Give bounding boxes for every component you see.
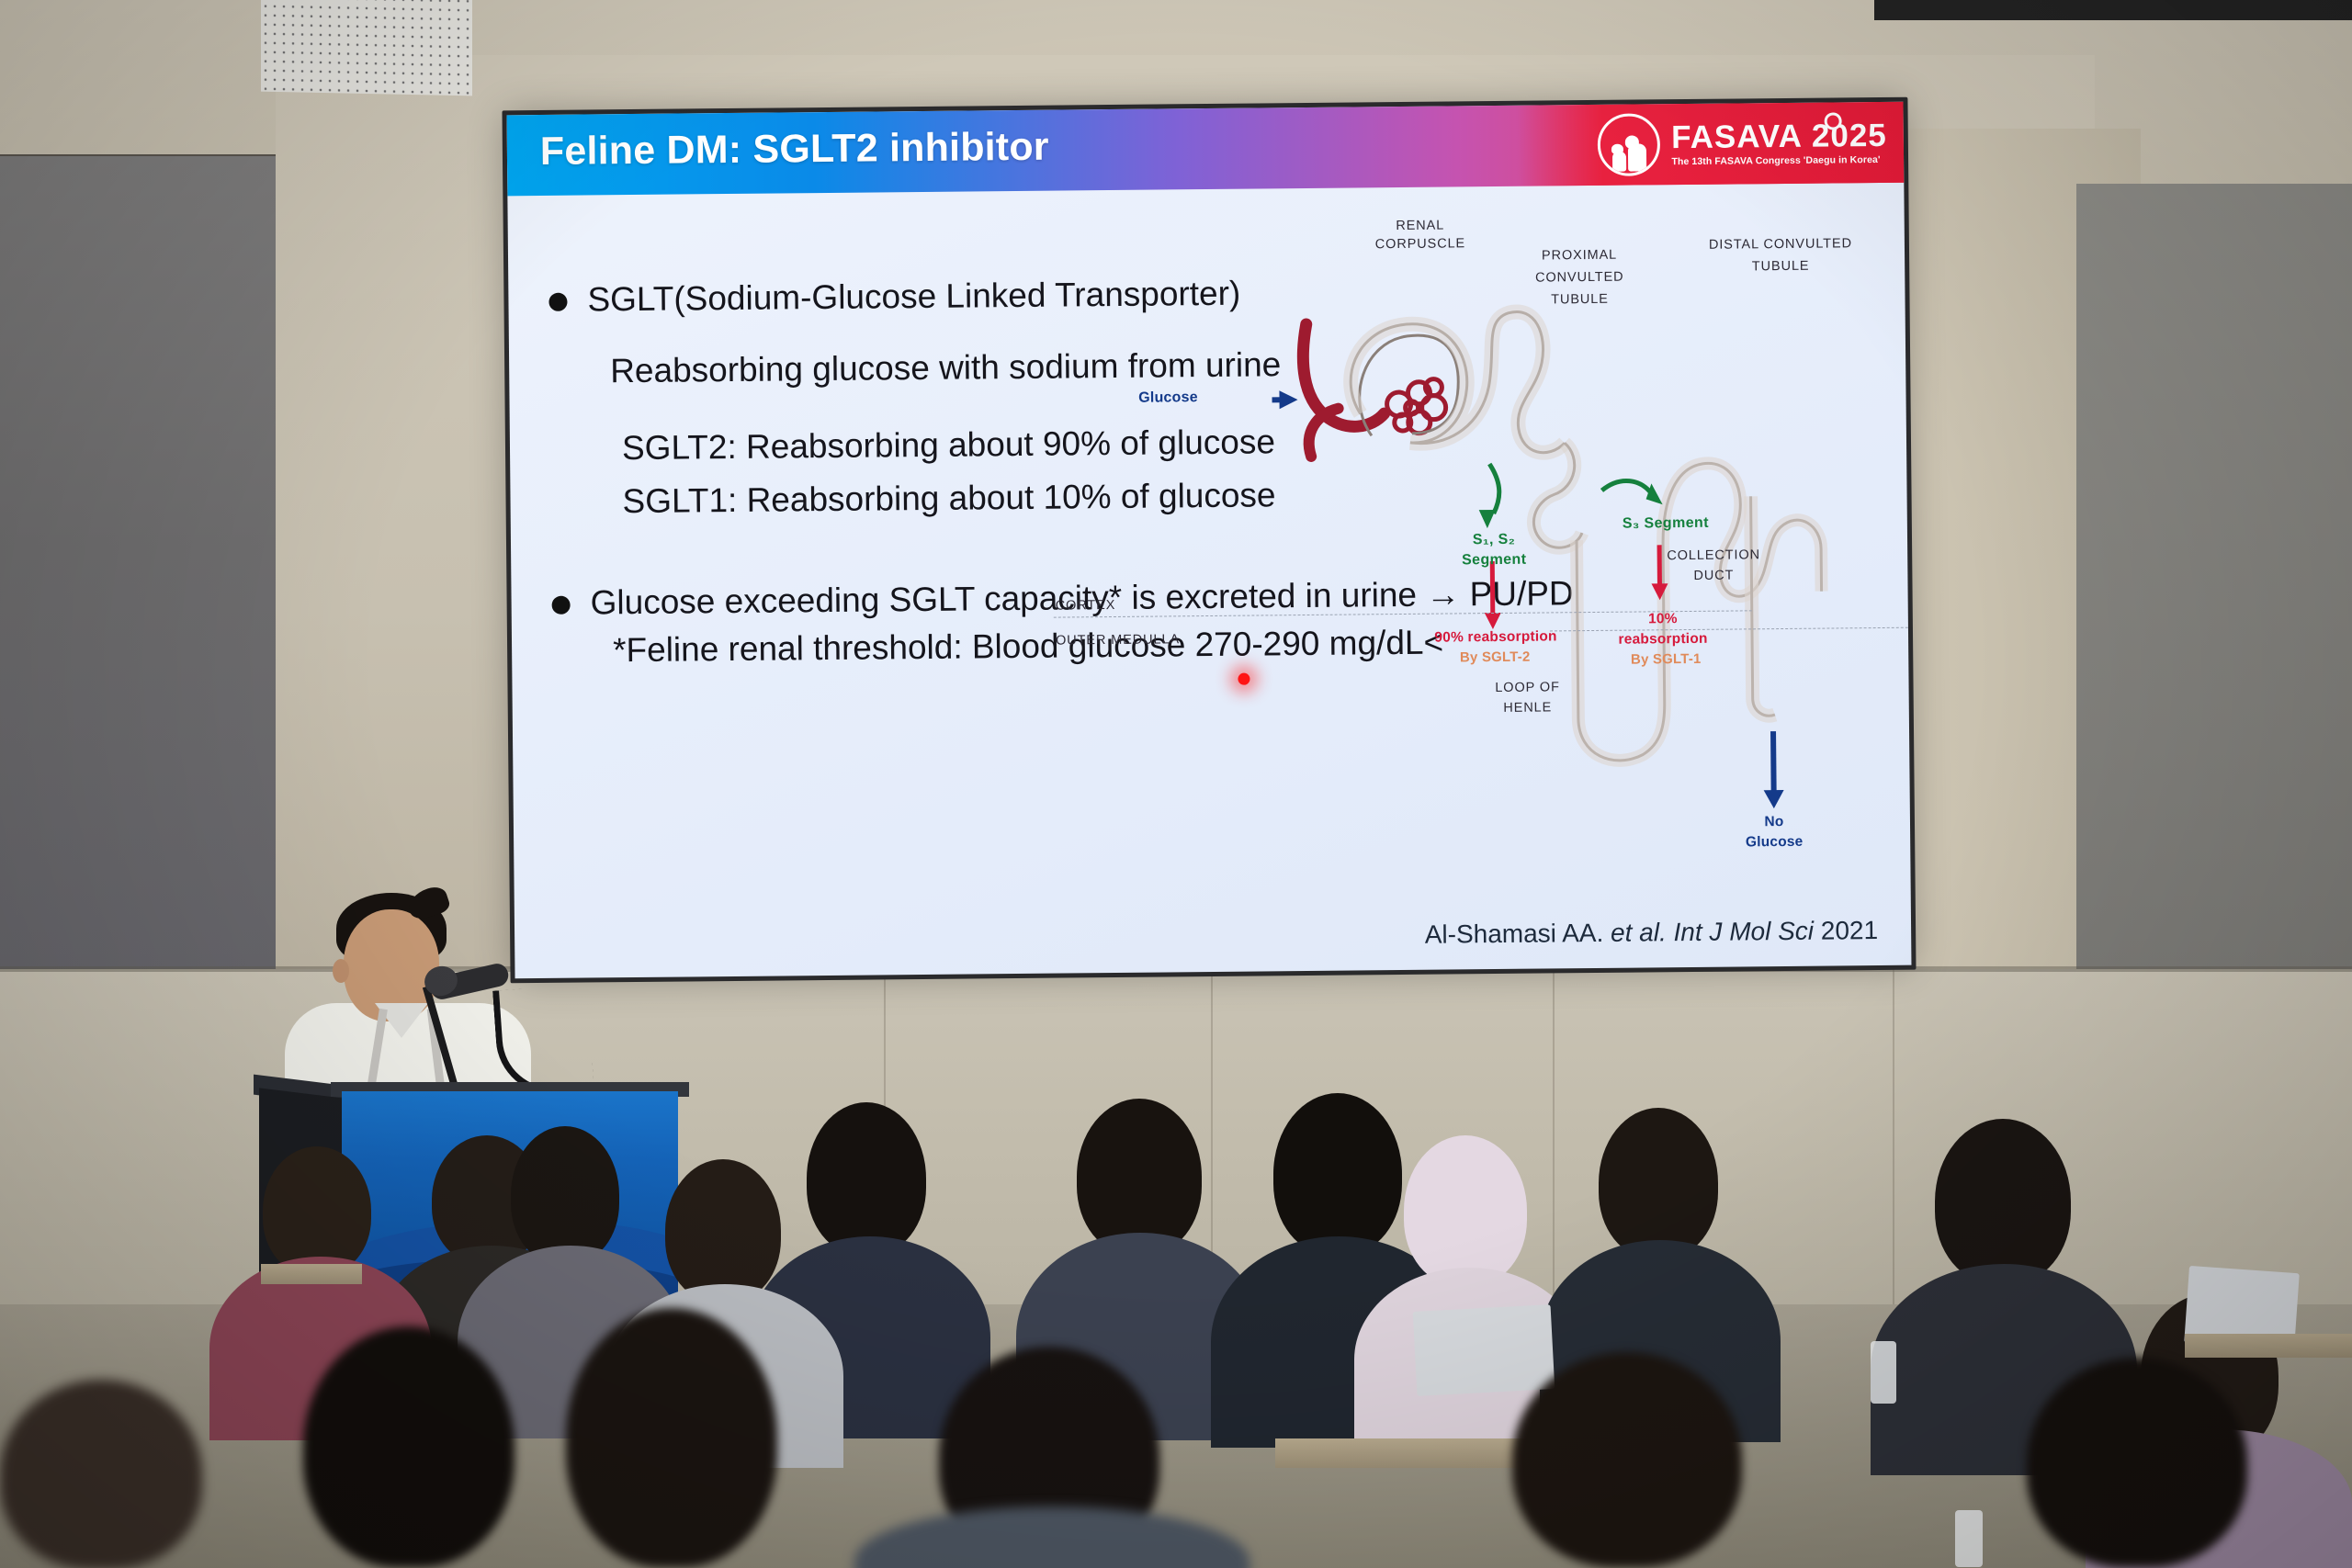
label-90-reabsorption: 90% reabsorption <box>1412 628 1579 647</box>
label-proximal-line1: PROXIMAL <box>1506 247 1653 264</box>
laser-pointer-dot <box>1238 673 1249 685</box>
water-bottle <box>1871 1341 1896 1404</box>
audience-desk <box>2185 1334 2352 1358</box>
fasava-year: 2025 <box>1812 119 1887 152</box>
label-10-reabsorption: reabsorption <box>1594 631 1732 649</box>
audience-head <box>665 1159 781 1303</box>
audience-head-foreground <box>1512 1352 1742 1567</box>
audience-head <box>1273 1093 1402 1255</box>
audience-head <box>1077 1099 1202 1255</box>
label-distal-line2: TUBULE <box>1675 258 1886 275</box>
fasava-name: FASAVA <box>1671 120 1803 153</box>
slide-title: Feline DM: SGLT2 inhibitor <box>540 125 1049 175</box>
bullet-1-subline-1: Reabsorbing glucose with sodium from uri… <box>610 343 1282 393</box>
projection-screen: Feline DM: SGLT2 inhibitor FASAVA 2025 <box>507 102 1912 979</box>
label-renal-corpuscle-line2: CORPUSCLE <box>1342 236 1498 253</box>
fasava-title-row: FASAVA 2025 <box>1671 119 1887 153</box>
water-bottle <box>1955 1510 1983 1567</box>
audience-head <box>1599 1108 1718 1258</box>
bullet-1-subline-3: SGLT1: Reabsorbing about 10% of glucose <box>622 473 1275 524</box>
bullet-dot-icon <box>548 293 567 311</box>
audience-laptop[interactable] <box>1413 1304 1555 1396</box>
label-loop-line2: HENLE <box>1468 700 1588 716</box>
fasava-wordmark: FASAVA 2025 The 13th FASAVA Congress 'Da… <box>1671 119 1887 167</box>
lecture-hall-photo: Feline DM: SGLT2 inhibitor FASAVA 2025 <box>0 0 2352 1568</box>
cat-icon <box>1612 152 1626 172</box>
bullet-dot-icon <box>552 596 571 615</box>
citation-authors: Al-Shamasi AA. <box>1425 919 1604 949</box>
label-glucose-input: Glucose <box>1117 389 1218 407</box>
slide-body: SGLT(Sodium-Glucose Linked Transporter) … <box>507 183 1911 979</box>
label-distal-line1: DISTAL CONVULTED <box>1675 236 1886 253</box>
label-by-sglt1: By SGLT-1 <box>1601 651 1730 668</box>
nephron-illustration <box>1271 220 1902 868</box>
label-collection-line2: DUCT <box>1645 568 1782 583</box>
label-s1s2-line1: S₁, S₂ <box>1439 531 1549 548</box>
speaker <box>296 887 522 1099</box>
label-s3-segment: S₃ Segment <box>1606 515 1725 533</box>
label-no-glucose-line2: Glucose <box>1719 834 1829 852</box>
audience-head <box>511 1126 619 1264</box>
perforated-ceiling-panel <box>261 0 472 96</box>
bullet-1-text: SGLT(Sodium-Glucose Linked Transporter) <box>587 272 1240 322</box>
slide-citation: Al-Shamasi AA. et al. Int J Mol Sci 2021 <box>1425 916 1879 950</box>
nephron-diagram: RENAL CORPUSCLE PROXIMAL CONVULTED TUBUL… <box>1271 220 1902 868</box>
label-proximal-line2: CONVULTED <box>1506 269 1653 286</box>
fasava-pet-circle-icon <box>1598 113 1661 176</box>
label-proximal-line3: TUBULE <box>1506 291 1653 308</box>
audience-head-hijab <box>1404 1135 1527 1286</box>
speaker-ear <box>333 959 349 983</box>
audience-head <box>1935 1119 2071 1284</box>
citation-journal: et al. Int J Mol Sci <box>1611 917 1814 947</box>
audience-head-foreground <box>303 1326 514 1567</box>
audience-head-foreground <box>0 1380 202 1568</box>
label-no-glucose-line1: No <box>1728 814 1820 831</box>
audience-head-foreground <box>2027 1358 2247 1567</box>
audience-desk <box>261 1264 362 1284</box>
slide: Feline DM: SGLT2 inhibitor FASAVA 2025 <box>507 102 1912 979</box>
fasava-subtitle: The 13th FASAVA Congress 'Daegu in Korea… <box>1671 154 1880 167</box>
label-by-sglt2: By SGLT-2 <box>1421 649 1568 666</box>
ceiling-dark-strip <box>1874 0 2352 20</box>
label-outer-medulla: OUTER MEDULLA <box>1056 632 1221 649</box>
label-s1s2-line2: Segment <box>1439 551 1549 569</box>
dog-icon <box>1628 143 1646 171</box>
label-collection-line1: COLLECTION <box>1645 547 1782 563</box>
audience-head <box>807 1102 926 1255</box>
bullet-1: SGLT(Sodium-Glucose Linked Transporter) <box>548 272 1240 322</box>
right-gray-acoustic-panel <box>2076 184 2352 974</box>
audience-head <box>263 1146 371 1275</box>
label-10-percent: 10% <box>1603 611 1723 628</box>
slide-header-bar: Feline DM: SGLT2 inhibitor FASAVA 2025 <box>507 102 1905 197</box>
label-renal-corpuscle-line1: RENAL <box>1351 218 1489 233</box>
bullet-1-subline-2: SGLT2: Reabsorbing about 90% of glucose <box>622 420 1275 470</box>
audience-head-foreground <box>566 1308 777 1567</box>
label-loop-line1: LOOP OF <box>1467 680 1587 695</box>
label-cortex: CORTEX <box>1056 598 1157 614</box>
fasava-logo: FASAVA 2025 The 13th FASAVA Congress 'Da… <box>1517 102 1904 186</box>
citation-year: 2021 <box>1821 916 1879 945</box>
